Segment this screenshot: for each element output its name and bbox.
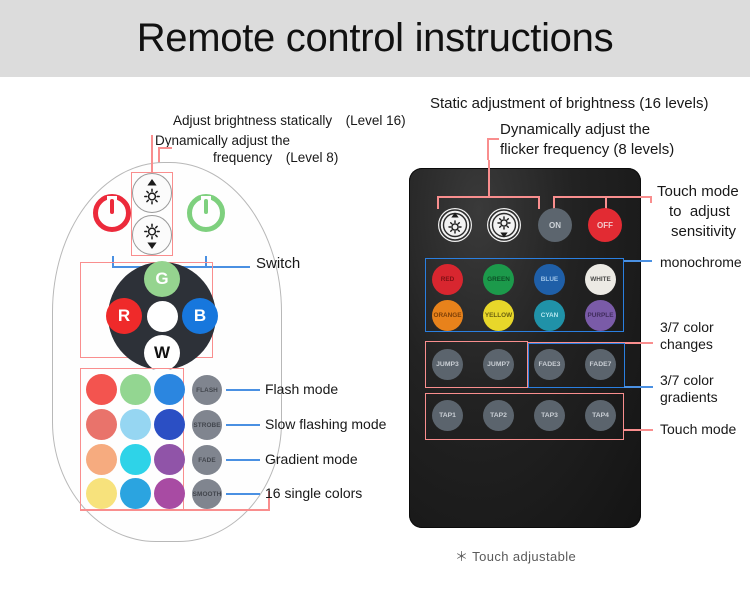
label-brightness-static-left: Adjust brightness statically (Level 16) <box>173 113 406 130</box>
leader-monochrome <box>624 260 652 262</box>
label-flicker-left-line2: frequency (Level 8) <box>213 150 338 167</box>
power-stem <box>110 199 114 214</box>
label-touch-sensitivity-l1: Touch mode <box>657 182 739 201</box>
color-swatch[interactable] <box>86 478 117 509</box>
leader-touch-mode <box>623 429 653 431</box>
color-swatch[interactable] <box>120 409 151 440</box>
color-wheel-left[interactable]: G R B W <box>108 262 216 370</box>
fade3-button[interactable]: FADE3 <box>534 349 565 380</box>
label-switch: Switch <box>256 254 300 273</box>
fade7-button[interactable]: FADE7 <box>585 349 616 380</box>
leader-fade-mode <box>226 459 260 461</box>
white-button[interactable]: WHITE <box>585 264 616 295</box>
leader-brightness-right-stem <box>488 160 490 197</box>
label-monochrome: monochrome <box>660 254 742 271</box>
leader-flash-mode <box>226 389 260 391</box>
cyan-button[interactable]: CYAN <box>534 300 565 331</box>
brightness-down-button-right[interactable] <box>487 208 521 242</box>
label-color-changes-l2: changes <box>660 336 713 353</box>
tap1-button[interactable]: TAP1 <box>432 400 463 431</box>
jump3-button[interactable]: JUMP3 <box>432 349 463 380</box>
wheel-center-key[interactable] <box>147 301 178 332</box>
color-swatch[interactable] <box>120 478 151 509</box>
leader-strobe-mode <box>226 424 260 426</box>
label-flicker-left-line1: Dynamically adjust the <box>155 133 290 150</box>
label-touch-sensitivity-l2: to adjust <box>669 202 730 221</box>
wheel-key-r[interactable]: R <box>106 298 142 334</box>
flash-mode-button[interactable]: FLASH <box>192 375 222 405</box>
color-swatch[interactable] <box>120 444 151 475</box>
smooth-mode-button[interactable]: SMOOTH <box>192 479 222 509</box>
label-brightness-static-right: Static adjustment of brightness (16 leve… <box>430 94 708 113</box>
label-color-gradients-l1: 3/7 color <box>660 372 714 389</box>
tap2-button[interactable]: TAP2 <box>483 400 514 431</box>
color-swatch[interactable] <box>120 374 151 405</box>
color-swatch[interactable] <box>154 374 185 405</box>
sun-down-icon <box>133 216 171 254</box>
label-color-gradients-l2: gradients <box>660 389 718 406</box>
color-swatch[interactable] <box>86 374 117 405</box>
label-smooth-mode: 16 single colors <box>265 485 362 502</box>
jump7-button[interactable]: JUMP7 <box>483 349 514 380</box>
wheel-key-b[interactable]: B <box>182 298 218 334</box>
leader-touch-sens <box>650 196 652 203</box>
purple-button[interactable]: PURPLE <box>585 300 616 331</box>
page-title: Remote control instructions <box>0 7 750 69</box>
off-button[interactable]: OFF <box>588 208 622 242</box>
color-swatch[interactable] <box>86 409 117 440</box>
sun-up-icon <box>438 208 472 242</box>
sun-up-icon <box>133 174 171 212</box>
color-swatch[interactable] <box>86 444 117 475</box>
label-flicker-right-line2: flicker frequency (8 levels) <box>500 140 674 159</box>
brightness-up-button-right[interactable] <box>438 208 472 242</box>
leader-flicker-right-vert <box>487 138 489 160</box>
brightness-down-button-left[interactable] <box>132 215 172 255</box>
color-swatch[interactable] <box>154 478 185 509</box>
power-on-button-left[interactable] <box>187 194 225 232</box>
label-fade-mode: Gradient mode <box>265 451 358 468</box>
leader-flicker-right-horiz <box>487 138 499 140</box>
wheel-key-g[interactable]: G <box>144 261 180 297</box>
label-touch-mode: Touch mode <box>660 421 736 438</box>
power-off-button-left[interactable] <box>93 194 131 232</box>
brightness-up-button-left[interactable] <box>132 173 172 213</box>
power-stem <box>204 199 208 214</box>
yellow-button[interactable]: YELLOW <box>483 300 514 331</box>
wheel-key-w[interactable]: W <box>144 335 180 371</box>
leader-brightness-left <box>151 135 153 172</box>
sun-down-icon <box>487 208 521 242</box>
label-touch-sensitivity-l3: sensitivity <box>671 222 736 241</box>
orange-button[interactable]: ORANGE <box>432 300 463 331</box>
footnote-touch-adjustable: ＊ Touch adjustable <box>455 546 576 565</box>
leader-smooth-mode <box>226 493 260 495</box>
leader-16-colors <box>80 509 270 511</box>
on-button[interactable]: ON <box>538 208 572 242</box>
fade-mode-button[interactable]: FADE <box>192 445 222 475</box>
bracket-onoff-top <box>553 196 651 198</box>
label-strobe-mode: Slow flashing mode <box>265 416 386 433</box>
label-flash-mode: Flash mode <box>265 381 338 398</box>
strobe-mode-button[interactable]: STROBE <box>192 410 222 440</box>
label-color-changes-l1: 3/7 color <box>660 319 714 336</box>
leader-flicker-left-horizontal <box>158 147 172 149</box>
red-button[interactable]: RED <box>432 264 463 295</box>
blue-button[interactable]: BLUE <box>534 264 565 295</box>
leader-color-gradients <box>624 386 653 388</box>
color-swatch[interactable] <box>154 409 185 440</box>
color-swatch[interactable] <box>154 444 185 475</box>
tap4-button[interactable]: TAP4 <box>585 400 616 431</box>
bracket-brightness-right <box>437 196 540 198</box>
tap3-button[interactable]: TAP3 <box>534 400 565 431</box>
label-flicker-right-line1: Dynamically adjust the <box>500 120 650 139</box>
green-button[interactable]: GREEN <box>483 264 514 295</box>
bracket-brightness-right-r <box>538 196 540 209</box>
